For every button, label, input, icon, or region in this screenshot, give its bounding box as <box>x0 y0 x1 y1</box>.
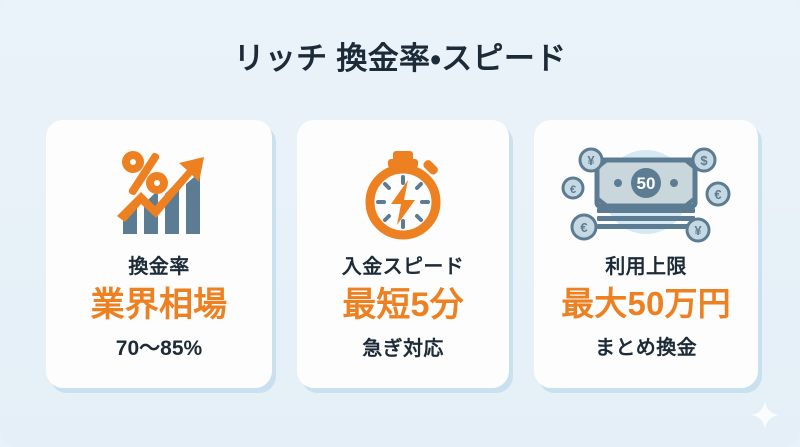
coin-yen-topleft: ¥ <box>580 149 602 171</box>
feature-card-list: 換金率 業界相場 70〜85% <box>46 120 758 388</box>
svg-text:€: € <box>580 220 587 235</box>
growth-chart-percent-icon <box>56 142 262 246</box>
card-subtext: 急ぎ対応 <box>362 332 444 361</box>
card-label: 入金スピード <box>342 250 464 279</box>
coin-euro-left: € <box>563 178 583 198</box>
svg-text:¥: ¥ <box>587 153 595 168</box>
stopwatch-lightning-icon <box>307 142 499 246</box>
feature-card-speed[interactable]: 入金スピード 最短5分 急ぎ対応 <box>297 120 509 388</box>
svg-text:€: € <box>570 184 576 196</box>
coin-euro-right: € <box>707 183 729 205</box>
card-label: 利用上限 <box>605 250 687 279</box>
infographic-canvas: リッチ 換金率・スピード <box>0 0 800 447</box>
card-value: 最大50万円 <box>561 285 731 324</box>
feature-card-rate[interactable]: 換金率 業界相場 70〜85% <box>46 120 272 388</box>
four-point-star-sparkle-icon <box>750 400 780 430</box>
page-title: リッチ 換金率・スピード <box>0 40 800 77</box>
card-value: 最短5分 <box>342 285 464 325</box>
card-subtext: まとめ換金 <box>595 331 697 360</box>
banknote-denomination: 50 <box>637 174 656 193</box>
svg-text:$: $ <box>700 153 708 168</box>
card-value: 業界相場 <box>91 285 228 325</box>
feature-card-limit[interactable]: 50 ¥ $ <box>534 120 758 388</box>
svg-text:€: € <box>714 187 721 202</box>
banknote-coins-icon: 50 ¥ $ <box>544 142 748 246</box>
coin-euro-bottomleft: € <box>572 215 596 239</box>
svg-text:¥: ¥ <box>694 223 702 238</box>
coin-dollar-topright: $ <box>693 149 715 171</box>
card-subtext: 70〜85% <box>116 332 202 362</box>
card-label: 換金率 <box>128 250 189 279</box>
coin-yen-bottomright: ¥ <box>687 219 709 241</box>
